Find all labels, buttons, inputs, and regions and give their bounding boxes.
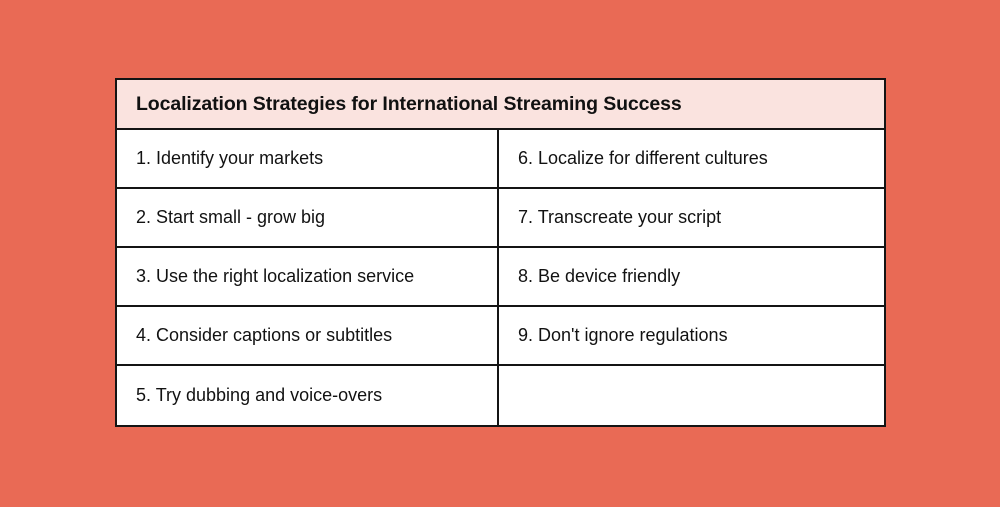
table-row: 4. Consider captions or subtitles 9. Don… <box>117 307 884 366</box>
table-cell-item-1: 1. Identify your markets <box>117 130 499 187</box>
table-cell-item-7: 7. Transcreate your script <box>499 189 884 246</box>
table-cell-empty <box>499 366 884 425</box>
table-row: 1. Identify your markets 6. Localize for… <box>117 130 884 189</box>
table-row: 5. Try dubbing and voice-overs <box>117 366 884 425</box>
table-cell-item-5: 5. Try dubbing and voice-overs <box>117 366 499 425</box>
table-cell-item-6: 6. Localize for different cultures <box>499 130 884 187</box>
table-cell-item-8: 8. Be device friendly <box>499 248 884 305</box>
page-canvas: Localization Strategies for Internationa… <box>0 0 1000 507</box>
localization-strategies-table: Localization Strategies for Internationa… <box>115 78 886 427</box>
table-row: 2. Start small - grow big 7. Transcreate… <box>117 189 884 248</box>
table-cell-item-9: 9. Don't ignore regulations <box>499 307 884 364</box>
table-cell-item-2: 2. Start small - grow big <box>117 189 499 246</box>
table-cell-item-3: 3. Use the right localization service <box>117 248 499 305</box>
table-title: Localization Strategies for Internationa… <box>117 80 884 130</box>
table-cell-item-4: 4. Consider captions or subtitles <box>117 307 499 364</box>
table-row: 3. Use the right localization service 8.… <box>117 248 884 307</box>
